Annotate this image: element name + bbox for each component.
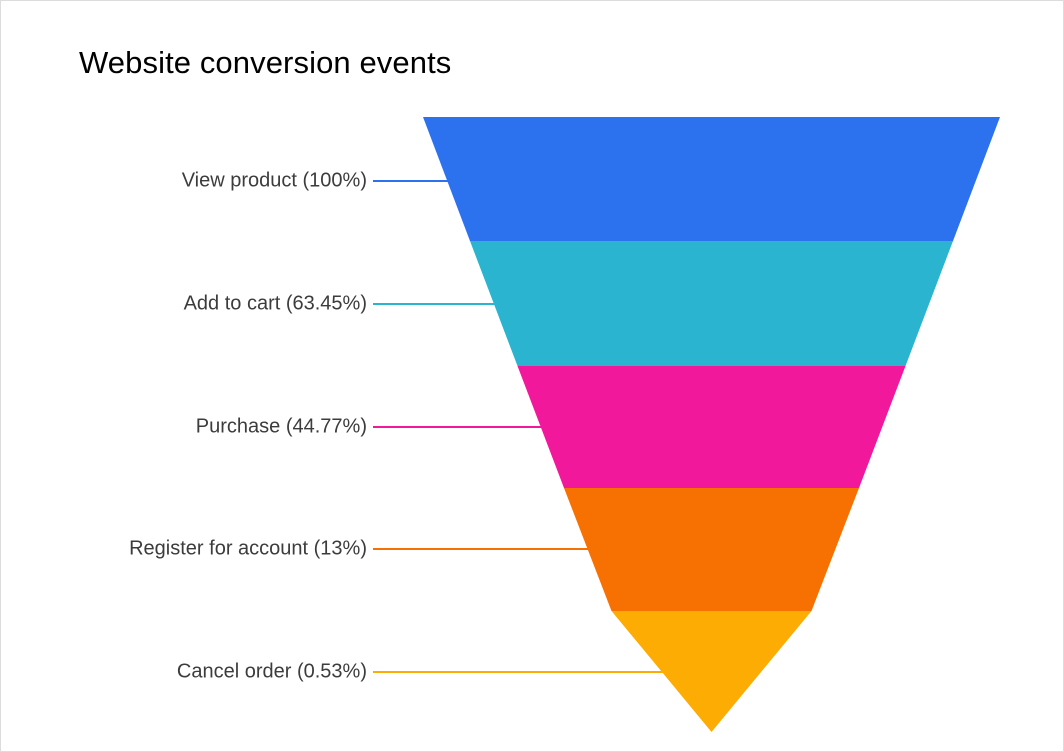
funnel-label-view-product: View product (100%) xyxy=(1,170,367,193)
funnel-segment-add-to-cart[interactable] xyxy=(470,241,953,366)
funnel-label-purchase: Purchase (44.77%) xyxy=(1,416,367,439)
funnel-segments-group xyxy=(423,117,1000,732)
funnel-chart-graphic xyxy=(1,1,1064,752)
funnel-label-add-to-cart: Add to cart (63.45%) xyxy=(1,293,367,316)
funnel-segment-view-product[interactable] xyxy=(423,117,1000,241)
funnel-label-cancel-order: Cancel order (0.53%) xyxy=(1,661,367,684)
funnel-segment-purchase[interactable] xyxy=(518,366,906,488)
chart-canvas: Website conversion events View product (… xyxy=(0,0,1064,752)
funnel-label-register-for-account: Register for account (13%) xyxy=(1,538,367,561)
